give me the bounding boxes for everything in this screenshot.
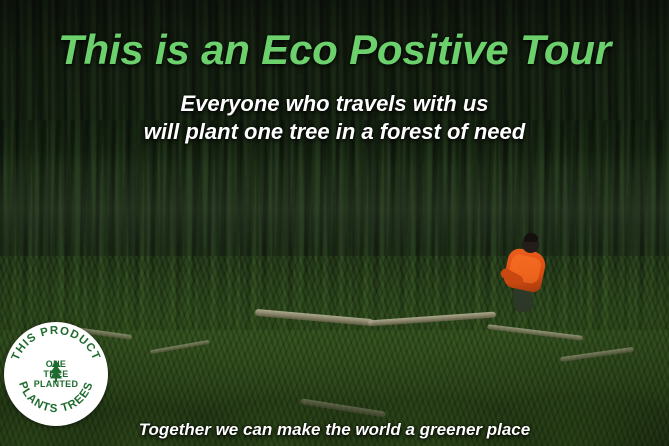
page-title: This is an Eco Positive Tour [0, 26, 669, 74]
eco-positive-tour-poster: This is an Eco Positive Tour Everyone wh… [0, 0, 669, 446]
svg-text:THIS PRODUCT: THIS PRODUCT [10, 325, 103, 363]
badge-arc-top-label: THIS PRODUCT [10, 325, 103, 363]
subtitle-block: Everyone who travels with us will plant … [0, 90, 669, 146]
subtitle-line-2: will plant one tree in a forest of need [0, 118, 669, 146]
tree-icon [45, 359, 67, 383]
one-tree-planted-badge: THIS PRODUCT PLANTS TREES ONE TREE PLANT… [4, 322, 108, 426]
subtitle-line-1: Everyone who travels with us [180, 91, 488, 116]
badge-core: ONE TREE PLANTED [28, 359, 84, 389]
